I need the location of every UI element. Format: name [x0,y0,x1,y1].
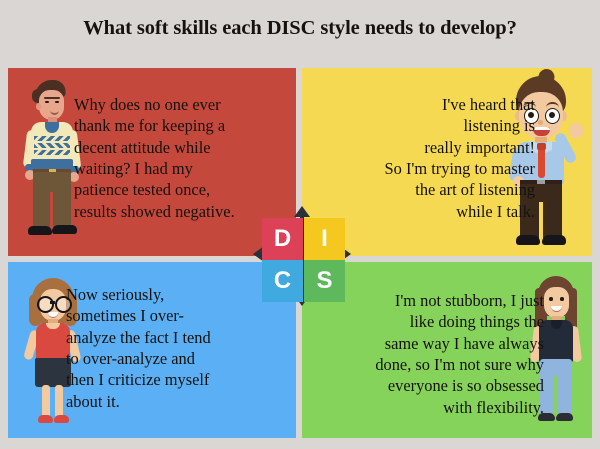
page-title: What soft skills each DISC style needs t… [0,17,600,40]
quote-dominance: Why does no one ever thank me for keepin… [74,94,279,222]
badge-cell-d: D [262,218,303,260]
badge-cell-c: C [262,260,303,302]
quote-influence: I've heard that listening is really impo… [320,94,535,222]
quote-steadiness: I'm not stubborn, I just like doing thin… [322,290,544,418]
disc-center-badge: D I C S [253,206,351,306]
quote-conscientiousness: Now seriously, sometimes I over- analyze… [66,284,281,412]
figure-man-cream-sweater [22,80,80,245]
infographic-canvas: What soft skills each DISC style needs t… [0,0,600,449]
badge-cell-s: S [304,260,345,302]
badge-cell-i: I [304,218,345,260]
arrow-up-icon [294,206,310,217]
